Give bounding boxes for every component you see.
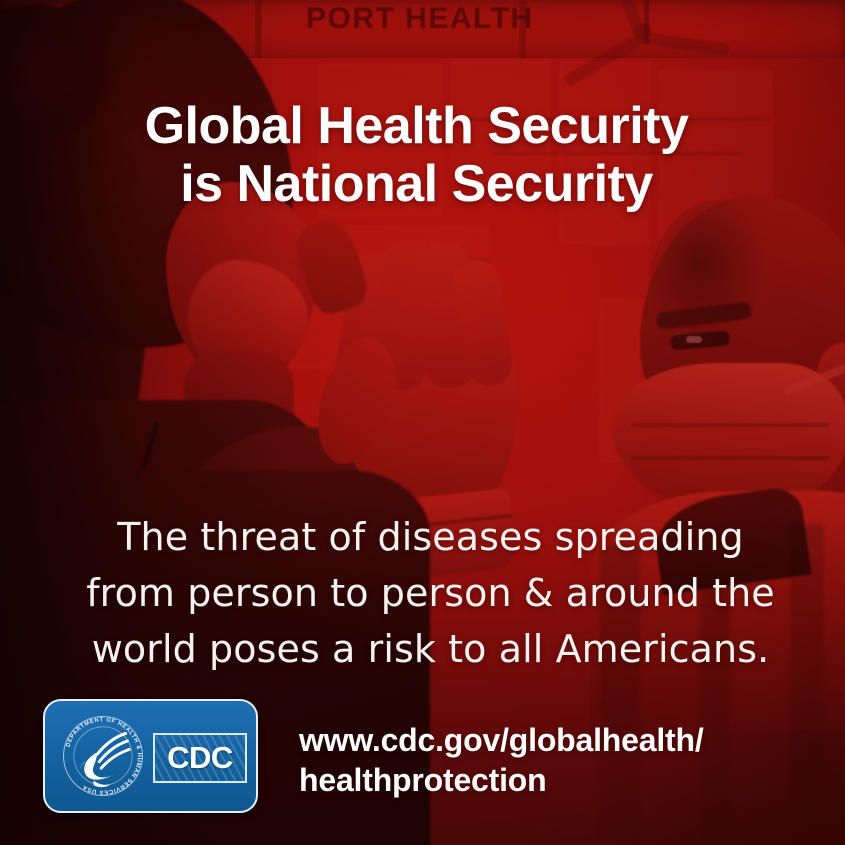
- body-copy: The threat of diseases spreading from pe…: [42, 510, 819, 678]
- cdc-global-health-security-poster: PORT HEALTH: [0, 0, 845, 845]
- url-line-2: healthprotection: [299, 760, 704, 800]
- cdc-logo: DEPARTMENT OF HEALTH & HUMAN SERVICES US…: [43, 699, 258, 813]
- url-line-1: www.cdc.gov/globalhealth/: [299, 720, 704, 760]
- website-url[interactable]: www.cdc.gov/globalhealth/ healthprotecti…: [299, 720, 704, 801]
- hhs-seal-icon: DEPARTMENT OF HEALTH & HUMAN SERVICES US…: [56, 709, 150, 803]
- cdc-wordmark-box: CDC: [153, 733, 247, 783]
- body-line-3: world poses a risk to all Americans.: [42, 622, 819, 678]
- headline-line-2: is National Security: [0, 155, 833, 213]
- body-line-1: The threat of diseases spreading: [42, 510, 819, 566]
- headline-line-1: Global Health Security: [145, 97, 689, 155]
- body-line-2: from person to person & around the: [42, 566, 819, 622]
- cdc-wordmark: CDC: [155, 740, 245, 776]
- poster-content: Global Health Security is National Secur…: [0, 0, 845, 845]
- page-title: Global Health Security is National Secur…: [0, 97, 833, 213]
